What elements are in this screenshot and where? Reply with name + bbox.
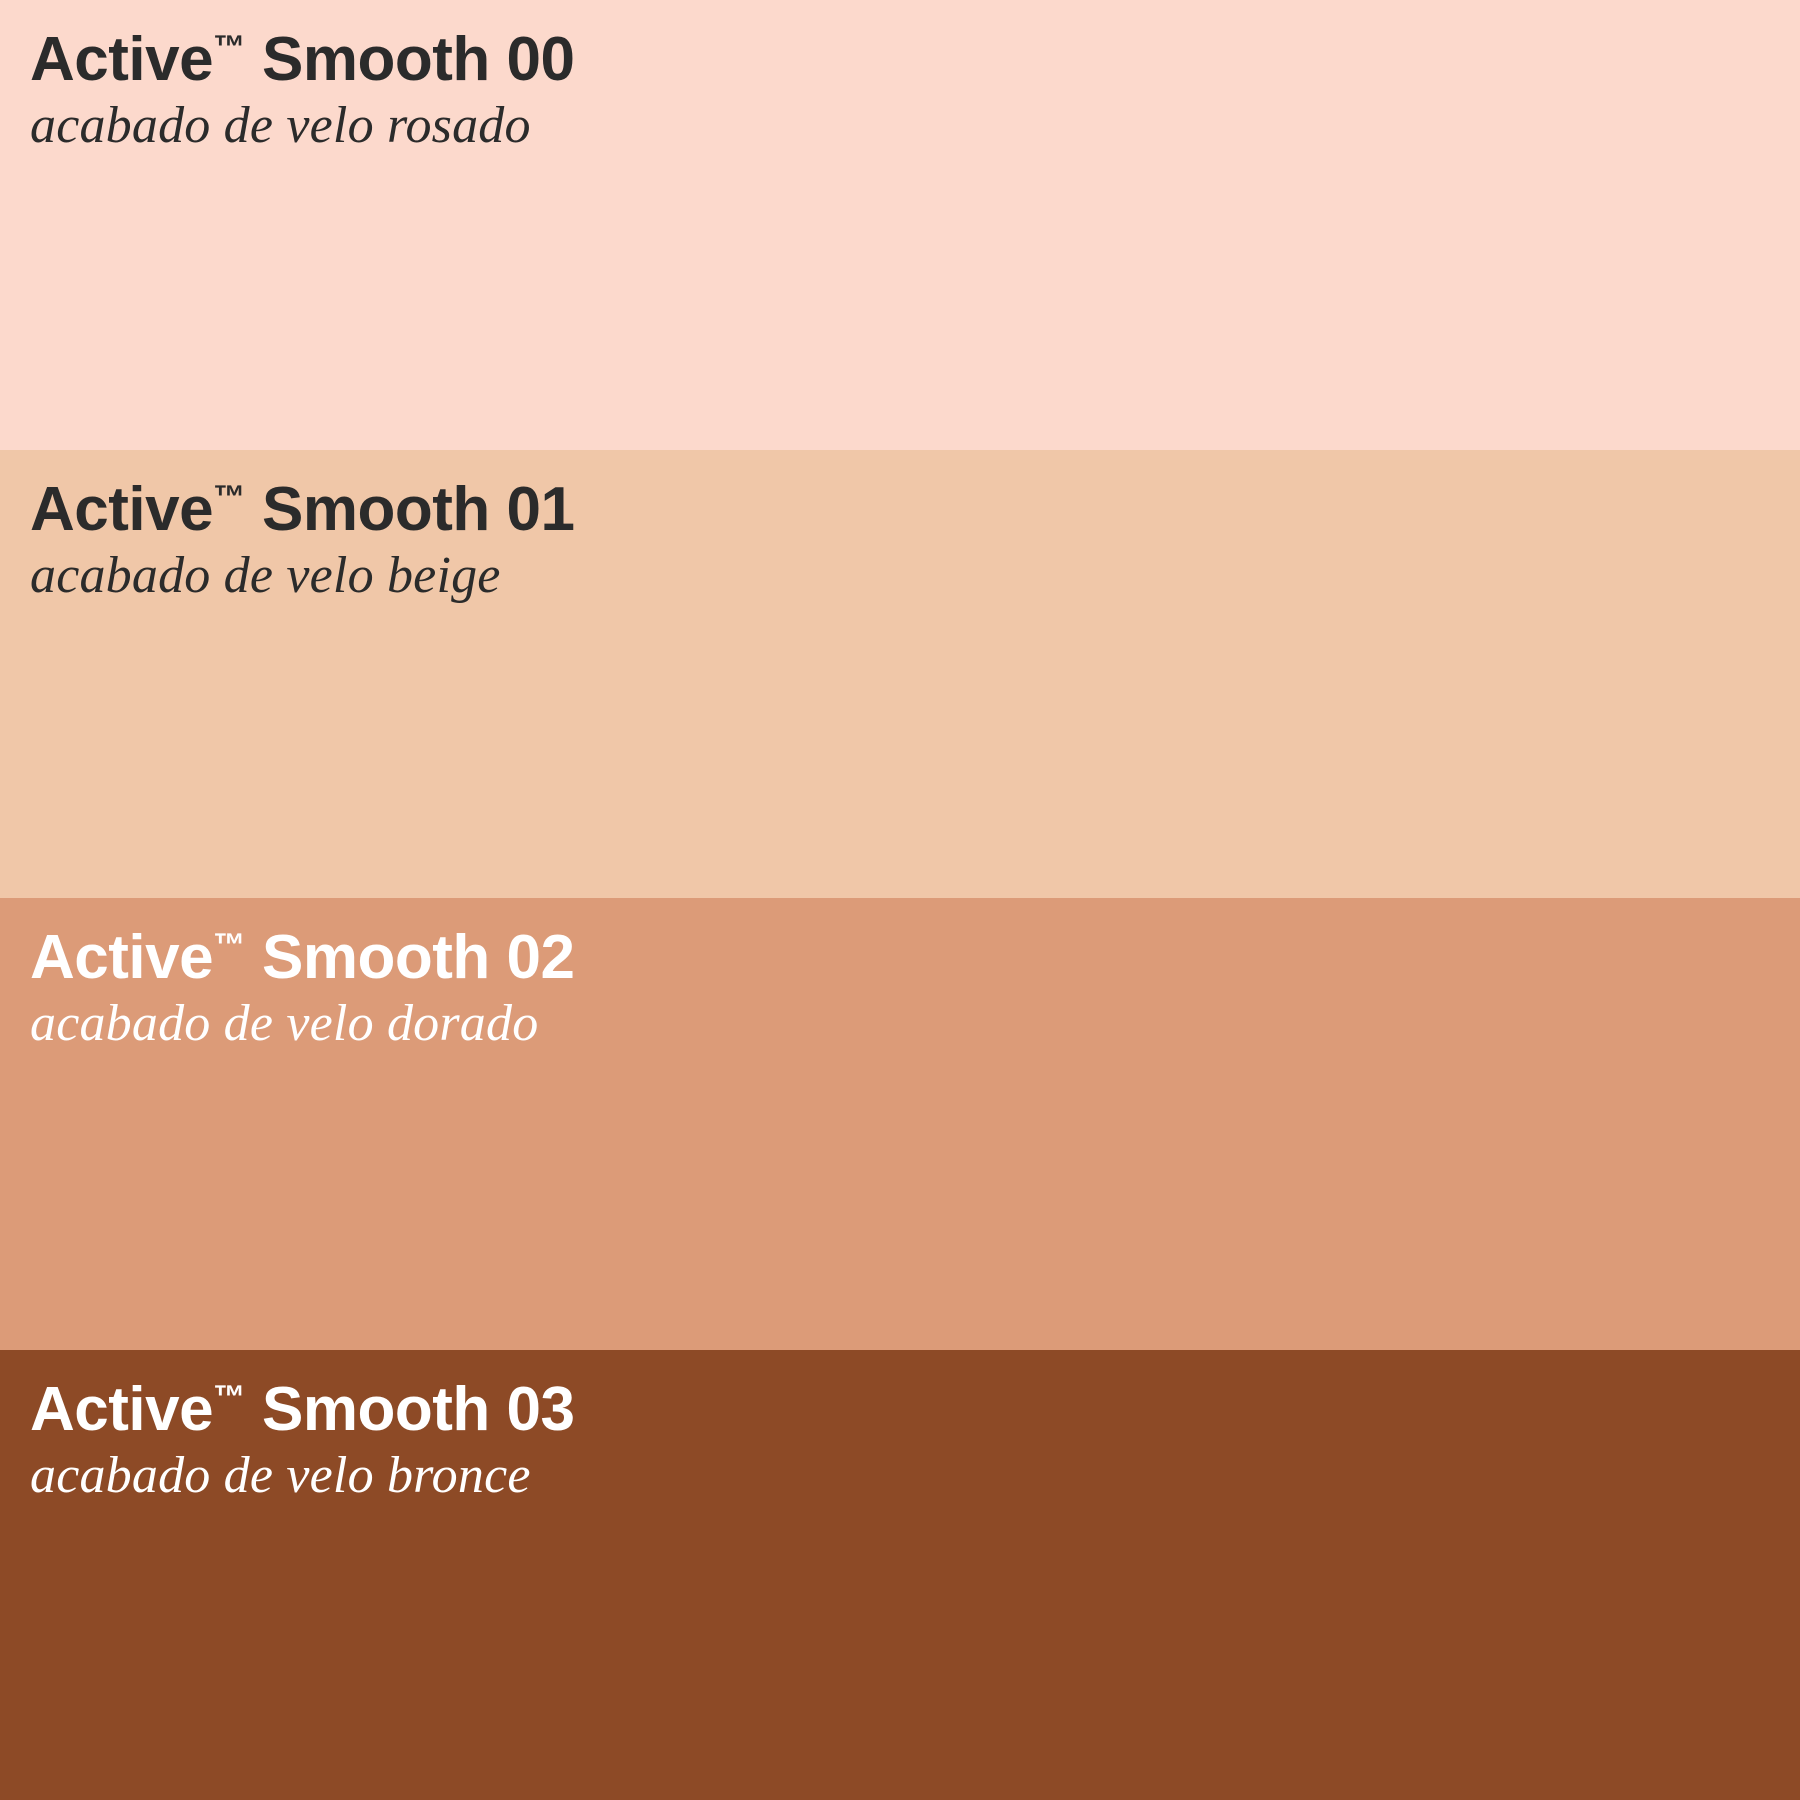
shade-title-suffix: Smooth 02 [245,923,574,992]
trademark-icon: ™ [213,28,245,64]
shade-subtitle-03: acabado de velo bronce [30,1441,1800,1505]
shade-title-base: Active [30,475,213,544]
shade-title-base: Active [30,25,213,94]
shade-swatch-03[interactable]: Active™ Smooth 03 acabado de velo bronce [0,1350,1800,1800]
shade-subtitle-01: acabado de velo beige [30,541,1800,605]
shade-title-suffix: Smooth 00 [245,25,574,94]
shade-title-suffix: Smooth 03 [245,1375,574,1444]
shade-subtitle-00: acabado de velo rosado [30,91,1800,155]
shade-title-suffix: Smooth 01 [245,475,574,544]
shade-title-02: Active™ Smooth 02 [30,926,1800,989]
trademark-icon: ™ [213,478,245,514]
trademark-icon: ™ [213,1378,245,1414]
trademark-icon: ™ [213,926,245,962]
shade-title-base: Active [30,1375,213,1444]
shade-title-base: Active [30,923,213,992]
shade-swatch-00[interactable]: Active™ Smooth 00 acabado de velo rosado [0,0,1800,450]
shade-title-00: Active™ Smooth 00 [30,28,1800,91]
shade-title-03: Active™ Smooth 03 [30,1378,1800,1441]
shade-subtitle-02: acabado de velo dorado [30,989,1800,1053]
shade-title-01: Active™ Smooth 01 [30,478,1800,541]
shade-swatch-stack: Active™ Smooth 00 acabado de velo rosado… [0,0,1800,1800]
shade-swatch-01[interactable]: Active™ Smooth 01 acabado de velo beige [0,450,1800,898]
shade-swatch-02[interactable]: Active™ Smooth 02 acabado de velo dorado [0,898,1800,1350]
